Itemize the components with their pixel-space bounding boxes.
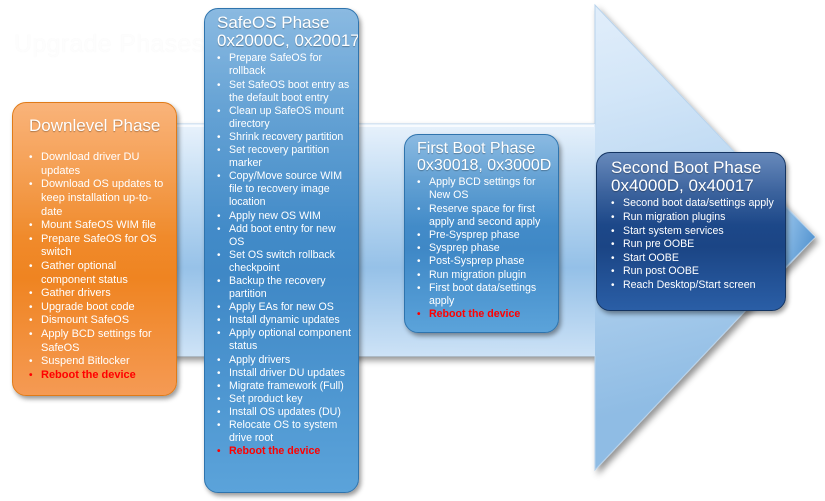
phase-step: Reach Desktop/Start screen: [611, 279, 777, 293]
phase-codes-secondboot: 0x4000D, 0x40017: [611, 177, 777, 195]
phase-step: Set product key: [217, 393, 352, 406]
phase-step: Second boot data/settings apply: [611, 197, 777, 211]
phase-step: Post-Sysprep phase: [417, 255, 552, 268]
phase-card-firstboot[interactable]: First Boot Phase 0x30018, 0x3000D Apply …: [404, 134, 559, 333]
phase-card-safeos[interactable]: SafeOS Phase 0x2000C, 0x20017 Prepare Sa…: [204, 8, 359, 493]
phase-step: Prepare SafeOS for rollback: [217, 52, 352, 78]
phase-step: Mount SafeOS WIM file: [29, 219, 167, 233]
diagram-canvas: Upgrade Phases Downlevel Phase Download …: [0, 0, 825, 501]
phase-step: Reserve space for first apply and second…: [417, 203, 552, 229]
phase-step: Pre-Sysprep phase: [417, 229, 552, 242]
phase-step: Reboot the device: [29, 369, 167, 383]
phase-step: Reboot the device: [417, 308, 552, 321]
phase-steps-secondboot: Second boot data/settings applyRun migra…: [611, 197, 777, 292]
phase-step: Clean up SafeOS mount directory: [217, 105, 352, 131]
phase-step: Run pre OOBE: [611, 238, 777, 252]
phase-card-downlevel[interactable]: Downlevel Phase Download driver DU updat…: [12, 102, 177, 396]
phase-steps-firstboot: Apply BCD settings for New OSReserve spa…: [417, 176, 552, 321]
phase-step: Sysprep phase: [417, 242, 552, 255]
phase-step: Add boot entry for new OS: [217, 223, 352, 249]
phase-step: Set recovery partition marker: [217, 144, 352, 170]
phase-step: Reboot the device: [217, 445, 352, 458]
phase-step: Run post OOBE: [611, 265, 777, 279]
phase-step: Set OS switch rollback checkpoint: [217, 249, 352, 275]
phase-title-secondboot: Second Boot Phase 0x4000D, 0x40017: [611, 159, 777, 197]
phase-step: Download driver DU updates: [29, 151, 167, 178]
phase-title-downlevel: Downlevel Phase: [29, 111, 167, 151]
phase-step: Start system services: [611, 225, 777, 239]
phase-step: Apply BCD settings for New OS: [417, 176, 552, 202]
phase-step: Start OOBE: [611, 252, 777, 266]
page-title-watermark: Upgrade Phases: [14, 30, 204, 59]
phase-step: Apply BCD settings for SafeOS: [29, 328, 167, 355]
phase-codes-firstboot: 0x30018, 0x3000D: [417, 157, 552, 174]
phase-title-safeos: SafeOS Phase 0x2000C, 0x20017: [217, 14, 352, 52]
phase-step: First boot data/settings apply: [417, 282, 552, 308]
phase-step: Run migration plugins: [611, 211, 777, 225]
phase-step: Apply new OS WIM: [217, 210, 352, 223]
phase-step: Install OS updates (DU): [217, 406, 352, 419]
phase-step: Gather drivers: [29, 287, 167, 301]
phase-step: Migrate framework (Full): [217, 380, 352, 393]
phase-step: Install driver DU updates: [217, 367, 352, 380]
phase-step: Dismount SafeOS: [29, 314, 167, 328]
phase-steps-safeos: Prepare SafeOS for rollbackSet SafeOS bo…: [217, 52, 352, 458]
phase-card-secondboot[interactable]: Second Boot Phase 0x4000D, 0x40017 Secon…: [596, 152, 786, 311]
phase-step: Copy/Move source WIM file to recovery im…: [217, 170, 352, 209]
phase-step: Prepare SafeOS for OS switch: [29, 233, 167, 260]
phase-codes-safeos: 0x2000C, 0x20017: [217, 32, 352, 50]
phase-step: Relocate OS to system drive root: [217, 419, 352, 445]
phase-step: Gather optional component status: [29, 260, 167, 287]
phase-steps-downlevel: Download driver DU updatesDownload OS up…: [29, 151, 167, 382]
phase-step: Set SafeOS boot entry as the default boo…: [217, 79, 352, 105]
phase-step: Download OS updates to keep installation…: [29, 178, 167, 219]
phase-step: Install dynamic updates: [217, 314, 352, 327]
phase-step: Shrink recovery partition: [217, 131, 352, 144]
phase-step: Suspend Bitlocker: [29, 355, 167, 369]
phase-step: Apply drivers: [217, 354, 352, 367]
phase-step: Apply optional component status: [217, 327, 352, 353]
phase-step: Backup the recovery partition: [217, 275, 352, 301]
phase-step: Run migration plugin: [417, 269, 552, 282]
phase-step: Upgrade boot code: [29, 301, 167, 315]
phase-step: Apply EAs for new OS: [217, 301, 352, 314]
phase-title-firstboot: First Boot Phase 0x30018, 0x3000D: [417, 140, 552, 176]
